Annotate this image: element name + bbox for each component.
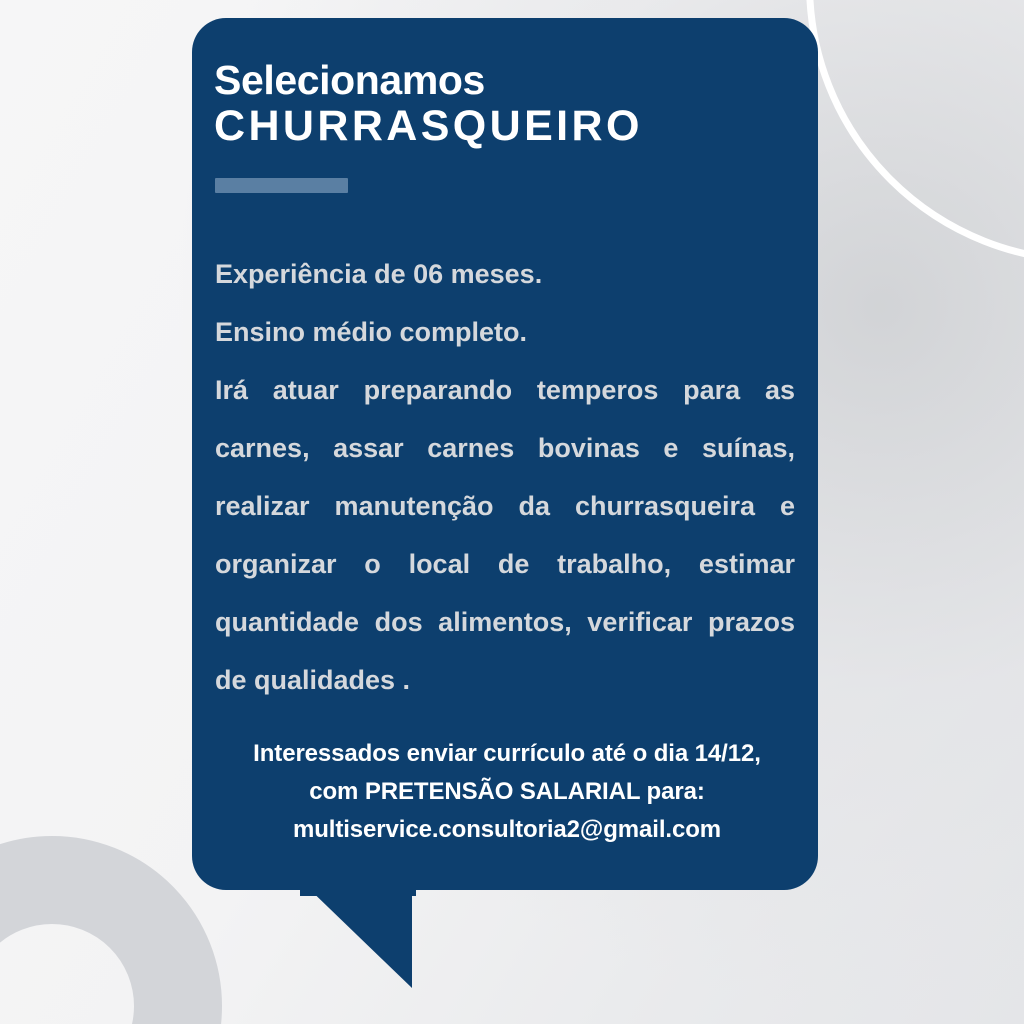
page-title: CHURRASQUEIRO	[214, 104, 794, 149]
eyebrow-text: Selecionamos	[214, 60, 794, 102]
requirement-item: Ensino médio completo.	[215, 303, 795, 361]
job-duties-text: Irá atuar preparando temperos para as ca…	[215, 361, 795, 709]
job-description-block: Experiência de 06 meses. Ensino médio co…	[215, 245, 795, 709]
gray-ring-decoration	[0, 836, 222, 1024]
white-arc-decoration	[806, 0, 1024, 264]
contact-email: multiservice.consultoria2@gmail.com	[214, 811, 800, 849]
contact-block: Interessados enviar currículo até o dia …	[214, 735, 800, 849]
speech-bubble-tail	[300, 880, 412, 988]
contact-instruction-line: com PRETENSÃO SALARIAL para:	[214, 773, 800, 811]
accent-bar	[215, 178, 348, 193]
requirement-item: Experiência de 06 meses.	[215, 245, 795, 303]
contact-instruction-line: Interessados enviar currículo até o dia …	[214, 735, 800, 773]
poster-header: Selecionamos CHURRASQUEIRO	[214, 60, 794, 193]
speech-bubble-card: Selecionamos CHURRASQUEIRO Experiência d…	[192, 18, 818, 890]
job-vacancy-poster: Selecionamos CHURRASQUEIRO Experiência d…	[0, 0, 1024, 1024]
